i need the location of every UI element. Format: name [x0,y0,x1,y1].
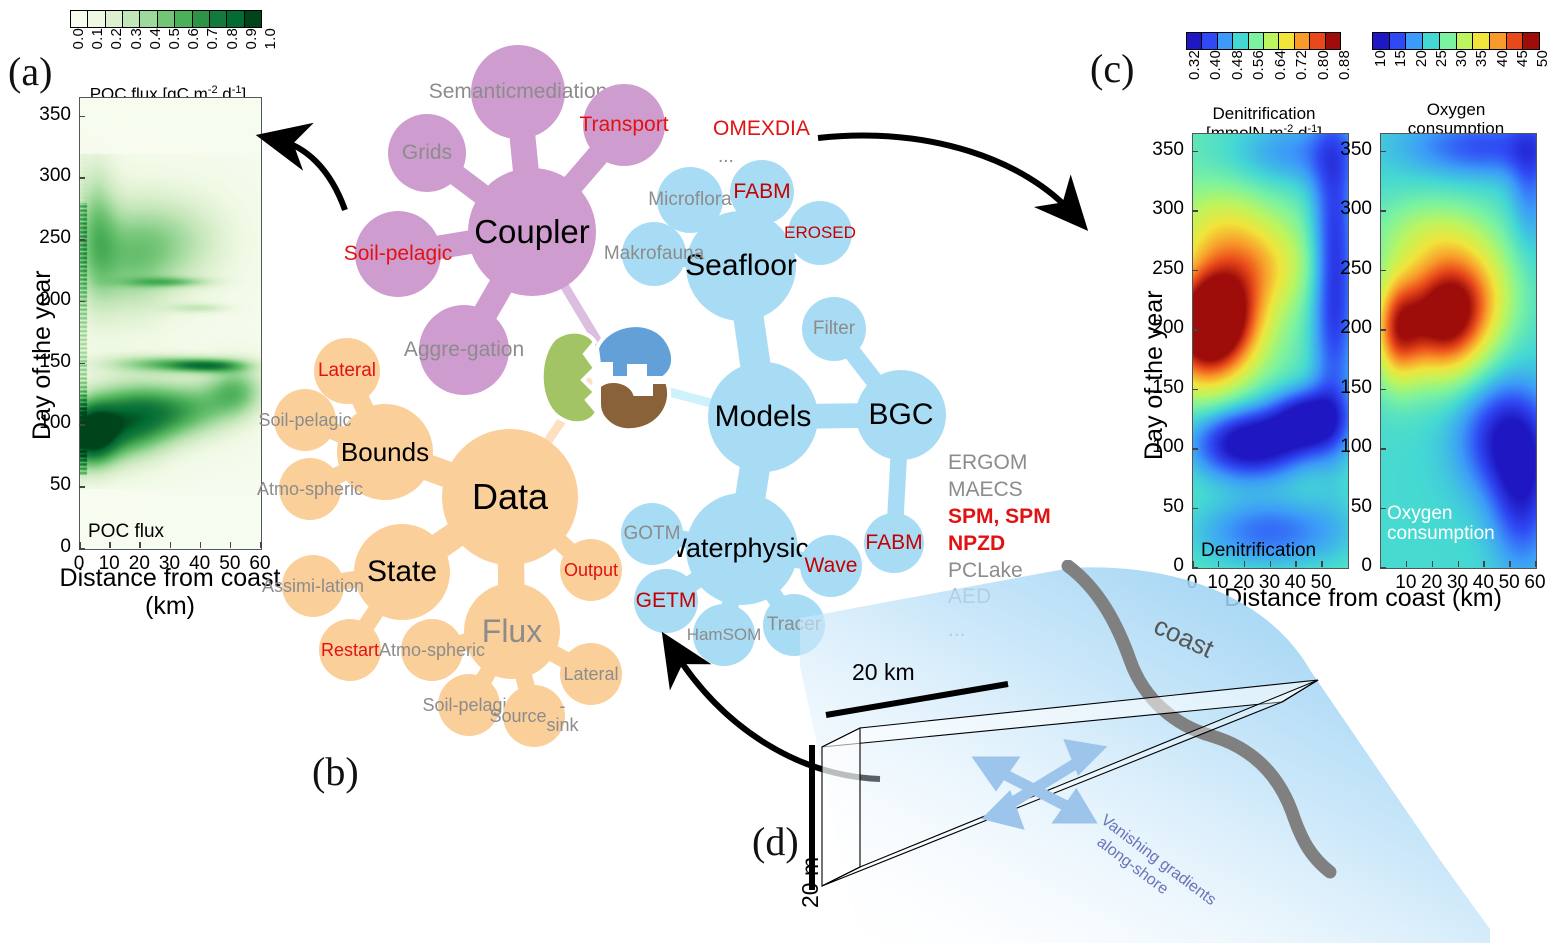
mindmap-node-lateral-flux[interactable]: Lateral [560,643,622,705]
denitrification-heatmap-surface [1193,134,1348,568]
colorbar-tick: 0.5 [166,28,183,49]
colorbar-tick: 0.40 [1207,50,1224,80]
colorbar-tick: 40 [1494,50,1511,67]
y-tick-label: 50 [1163,496,1184,518]
y-tick-label: 50 [1351,496,1372,518]
y-tick-label: 250 [1340,258,1372,280]
y-tick-mark [1380,448,1386,450]
mindmap-node-coupler[interactable]: Coupler [468,168,596,296]
mindmap-node-aggregation[interactable]: Aggre-gation [419,305,509,395]
mindmap-node-hamsom[interactable]: HamSOM [693,604,755,666]
bgc-model-item: SPM, SPM [948,504,1051,531]
colorbar-tick: 0.8 [224,28,241,49]
mindmap-node-data[interactable]: Data [442,429,578,565]
y-tick-mark [79,239,85,241]
y-tick-mark [1380,508,1386,510]
oxygen-colorbar-gradient [1372,32,1540,50]
panel-c-y-axis-title: Day of the year [1140,290,1169,460]
colorbar-tick: 0.56 [1250,50,1267,80]
heatmap-canvas [1193,134,1348,568]
x-tick-mark [230,542,232,548]
x-tick-mark [200,542,202,548]
heatmap-canvas [80,98,261,549]
y-tick-mark [79,363,85,365]
y-tick-mark [1380,210,1386,212]
denitrification-inplot-label: Denitrification [1201,540,1316,562]
poc-flux-heatmap: POC flux [79,97,262,550]
colorbar-tick: 35 [1473,50,1490,67]
colorbar-tick: 0.80 [1315,50,1332,80]
y-tick-label: 300 [1152,198,1184,220]
mindmap-node-flux[interactable]: Flux [464,583,560,679]
colorbar-tick: 45 [1514,50,1531,67]
poc-flux-colorbar: 0.00.10.20.30.40.50.60.70.80.91.0 POC fl… [70,10,262,84]
y-tick-mark [79,301,85,303]
mindmap-node-erosed[interactable]: EROSED [788,201,852,265]
colorbar-tick: 0.0 [70,28,87,49]
y-tick-mark [79,177,85,179]
x-tick-mark [260,542,262,548]
poc-flux-inplot-label: POC flux [88,521,164,543]
x-tick-mark [1535,561,1537,567]
denitrification-heatmap: Denitrification [1192,133,1349,569]
y-tick-label: 300 [1340,198,1372,220]
mindmap-node-models[interactable]: Models [708,362,818,472]
panel-b-label: (b) [312,748,359,795]
poc-flux-y-axis-title: Day of the year [28,270,57,440]
mindmap-node-soil-pelagic-flux[interactable]: Soil-pelagic [438,674,500,736]
y-tick-label: 50 [50,474,71,496]
mindmap-node-micro-flora[interactable]: Microflora [657,167,723,233]
colorbar-tick: 0.48 [1229,50,1246,80]
colorbar-tick: 25 [1433,50,1450,67]
mindmap-node-source-sink[interactable]: Source-sink [503,685,565,747]
brown-puzzle-piece [599,381,669,430]
y-tick-label: 0 [60,536,71,558]
y-tick-mark [1380,329,1386,331]
mindmap-node-state[interactable]: State [354,524,450,620]
poc-flux-x-axis-title: Distance from coast (km) [50,565,290,620]
y-tick-mark [1380,270,1386,272]
colorbar-tick: 0.1 [89,28,106,49]
x-tick-mark [170,542,172,548]
denitrification-colorbar: 0.320.400.480.560.640.720.800.88 Denitri… [1186,32,1341,106]
y-tick-label: 300 [39,165,71,187]
width-label: 20 km [852,659,915,685]
y-tick-label: 100 [1340,436,1372,458]
colorbar-tick: 10 [1372,50,1389,67]
green-puzzle-piece [542,332,597,424]
y-tick-mark [1380,389,1386,391]
y-tick-mark [1192,448,1198,450]
y-tick-mark [1192,151,1198,153]
mindmap-node-soil-pelagic-coup[interactable]: Soil-pelagic [355,211,441,297]
poc-flux-heatmap-surface [80,98,261,549]
mindmap-node-water-physics[interactable]: Waterphysics [686,493,798,605]
colorbar-tick: 1.0 [262,28,279,49]
y-tick-label: 350 [39,104,71,126]
poc-flux-colorbar-gradient [70,10,262,28]
y-tick-mark [79,486,85,488]
y-tick-mark [1192,270,1198,272]
mindmap-node-restart[interactable]: Restart [319,619,381,681]
omexdia-label: OMEXDIA [713,117,810,141]
coupled-model-logo [525,308,690,443]
mindmap-node-lateral-bounds[interactable]: Lateral [314,338,380,404]
mindmap-node-gotm[interactable]: GOTM [621,503,683,565]
y-tick-mark [79,116,85,118]
y-tick-mark [1380,151,1386,153]
colorbar-tick: 0.4 [147,28,164,49]
arrow-to-panel-c [818,136,1073,214]
y-tick-mark [1192,389,1198,391]
oxygen-heatmap: Oxygenconsumption [1380,133,1537,569]
y-tick-label: 250 [1152,258,1184,280]
mindmap-node-atmospheric-bounds[interactable]: Atmo-spheric [279,458,341,520]
blue-puzzle-piece [597,325,673,378]
y-tick-label: 250 [39,227,71,249]
bgc-model-item: MAECS [948,477,1051,504]
mindmap-node-getm[interactable]: GETM [634,569,698,633]
omexdia-ellipsis: ... [718,146,734,168]
y-tick-mark [1192,210,1198,212]
x-tick-mark [79,542,81,548]
y-tick-label: 350 [1340,139,1372,161]
oxygen-colorbar-ticks: 101520253035404550 [1372,50,1540,106]
colorbar-tick: 0.2 [108,28,125,49]
denitrification-colorbar-gradient [1186,32,1341,50]
coastal-wedge-diagram: 20 km 20 m coast Vanishing gradients alo… [800,560,1490,943]
colorbar-tick: 0.88 [1336,50,1353,80]
colorbar-tick: 20 [1413,50,1430,67]
mindmap-node-assimilation[interactable]: Assimi-lation [282,555,344,617]
y-tick-mark [1192,329,1198,331]
colorbar-tick: 0.32 [1186,50,1203,80]
mindmap-node-filter[interactable]: Filter [802,297,866,361]
oxygen-colorbar: 101520253035404550 Oxygen consumption [m… [1372,32,1540,106]
colorbar-tick: 0.9 [243,28,260,49]
x-tick-mark [1509,561,1511,567]
colorbar-tick: 0.6 [185,28,202,49]
panel-c-label: (c) [1090,45,1134,92]
mindmap-node-bgc[interactable]: BGC [856,370,946,460]
bgc-model-item: ERGOM [948,450,1051,477]
colorbar-tick: 50 [1534,50,1551,67]
colorbar-tick: 30 [1453,50,1470,67]
mindmap-node-soil-pelagic-bounds[interactable]: Soil-pelagic [274,389,336,451]
y-tick-mark [1192,508,1198,510]
bgc-model-item: NPZD [948,531,1051,558]
y-tick-label: 200 [1340,317,1372,339]
colorbar-tick: 0.72 [1293,50,1310,80]
mindmap-node-fabm-seafloor[interactable]: FABM [730,160,794,224]
poc-flux-colorbar-ticks: 0.00.10.20.30.40.50.60.70.80.91.0 [70,28,262,84]
mindmap-node-atmospheric-flux[interactable]: Atmo-spheric [401,619,463,681]
colorbar-tick: 0.7 [204,28,221,49]
mindmap-node-grids[interactable]: Grids [388,114,466,192]
colorbar-tick: 0.64 [1272,50,1289,80]
y-tick-label: 150 [1340,377,1372,399]
y-tick-mark [79,548,85,550]
panel-d-label: (d) [752,818,799,865]
y-tick-mark [79,424,85,426]
colorbar-tick: 0.3 [128,28,145,49]
mindmap-node-output[interactable]: Output [560,539,622,601]
y-tick-label: 350 [1152,139,1184,161]
mindmap-node-transport[interactable]: Transport [583,84,665,166]
mindmap-node-semantic-mediation[interactable]: Semanticmediation [471,45,565,139]
depth-label: 20 m [800,857,823,908]
oxygen-inplot-label: Oxygenconsumption [1387,504,1495,544]
arrow-to-panel-a [278,140,345,210]
mindmap-node-makro-fauna[interactable]: Makrofauna [622,222,686,286]
colorbar-tick: 15 [1392,50,1409,67]
denitrification-colorbar-ticks: 0.320.400.480.560.640.720.800.88 [1186,50,1341,106]
